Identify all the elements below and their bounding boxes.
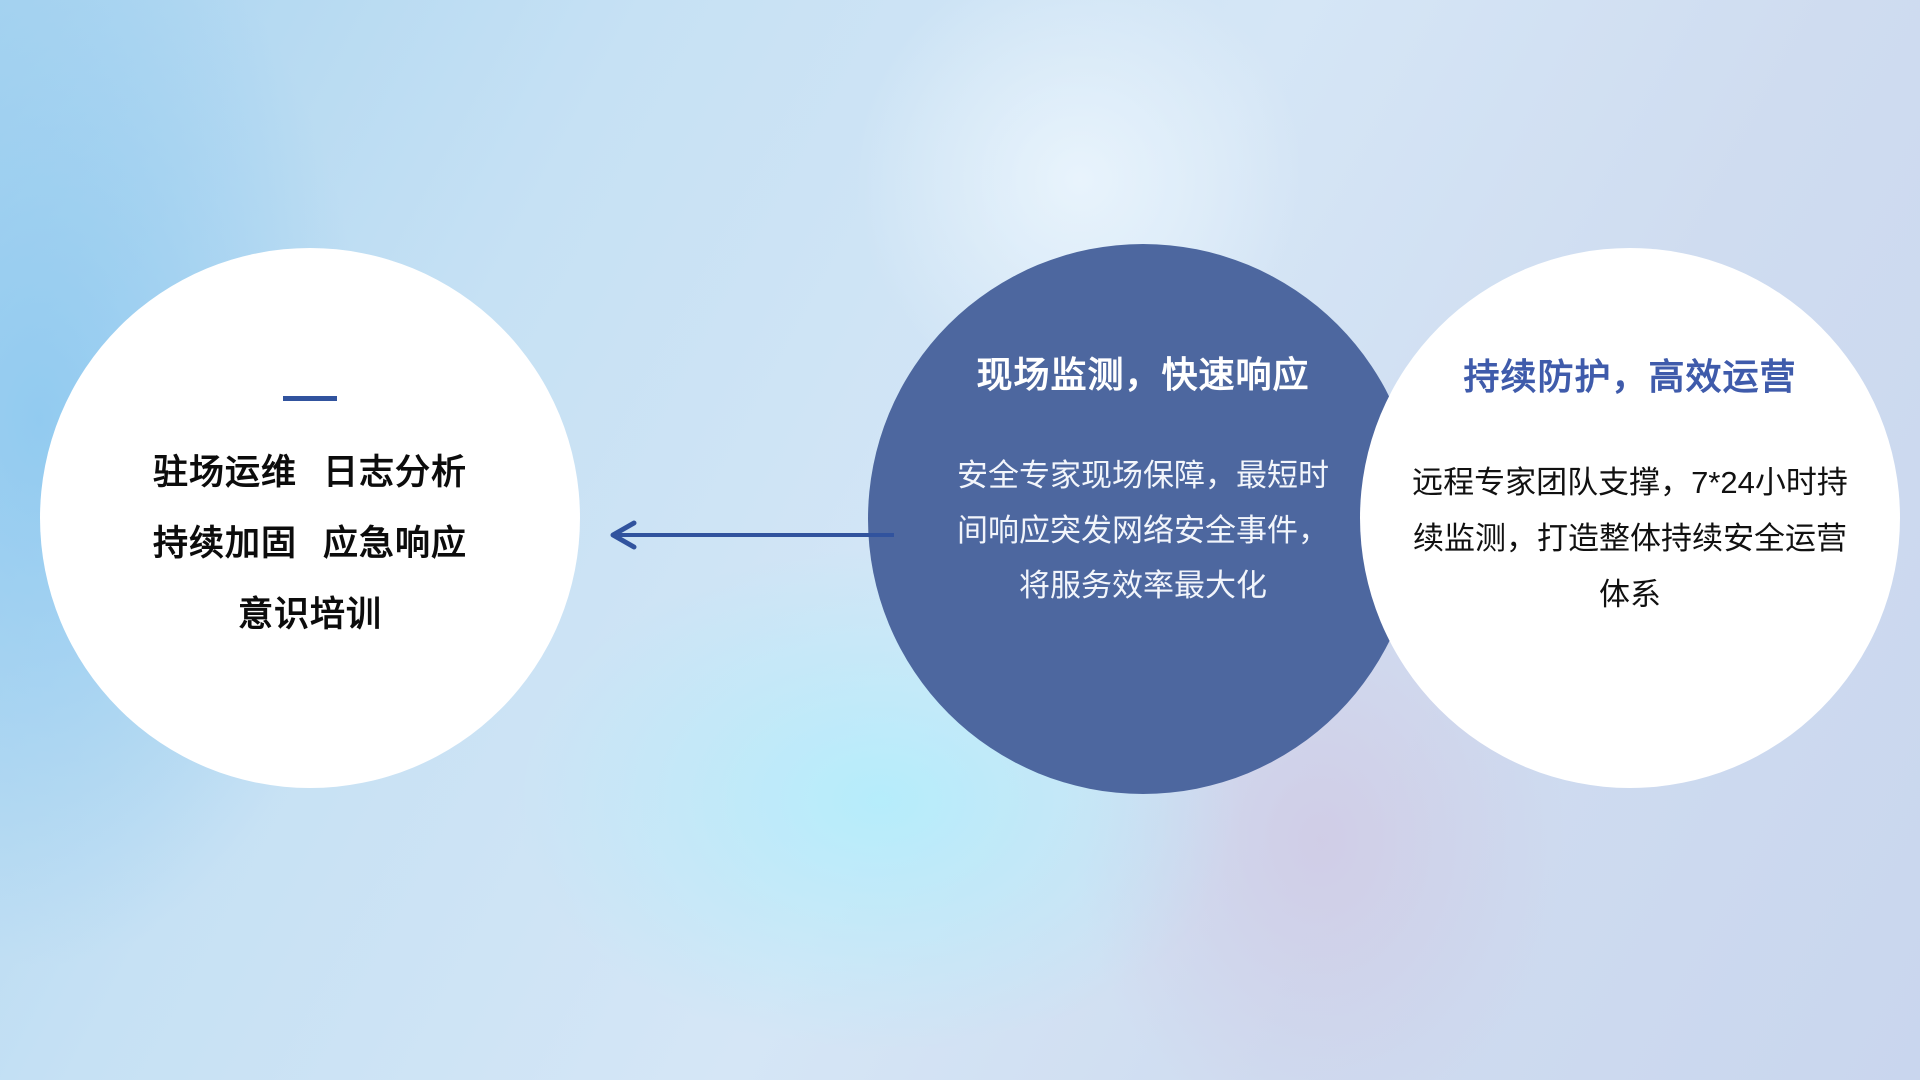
capability-tag: 日志分析 <box>323 453 467 492</box>
capability-tag-row: 驻场运维日志分析 <box>153 437 467 508</box>
right-circle-body: 远程专家团队支撑，7*24小时持续监测，打造整体持续安全运营体系 <box>1405 455 1855 623</box>
middle-circle-title: 现场监测，快速响应 <box>976 346 1309 398</box>
capability-tag: 持续加固 <box>153 524 297 563</box>
right-circle-title: 持续防护，高效运营 <box>1463 348 1796 400</box>
capability-tag: 驻场运维 <box>153 453 297 492</box>
left-capability-circle[interactable]: 驻场运维日志分析 持续加固应急响应 意识培训 <box>40 248 580 788</box>
middle-onsite-circle[interactable]: 现场监测，快速响应 安全专家现场保障，最短时间响应突发网络安全事件，将服务效率最… <box>868 244 1418 794</box>
flow-arrow-left-icon <box>598 520 898 550</box>
capability-tag: 意识培训 <box>238 595 382 634</box>
right-operations-circle[interactable]: 持续防护，高效运营 远程专家团队支撑，7*24小时持续监测，打造整体持续安全运营… <box>1360 248 1900 788</box>
capability-tag: 应急响应 <box>323 524 467 563</box>
divider-dash-icon <box>283 396 337 401</box>
diagram-canvas: 驻场运维日志分析 持续加固应急响应 意识培训 现场监测，快速响应 安全专家现场保… <box>0 0 1920 1080</box>
capability-tag-row: 意识培训 <box>153 579 467 650</box>
capability-tag-row: 持续加固应急响应 <box>153 508 467 579</box>
middle-circle-body: 安全专家现场保障，最短时间响应突发网络安全事件，将服务效率最大化 <box>943 448 1343 613</box>
capability-tag-list: 驻场运维日志分析 持续加固应急响应 意识培训 <box>153 437 467 650</box>
